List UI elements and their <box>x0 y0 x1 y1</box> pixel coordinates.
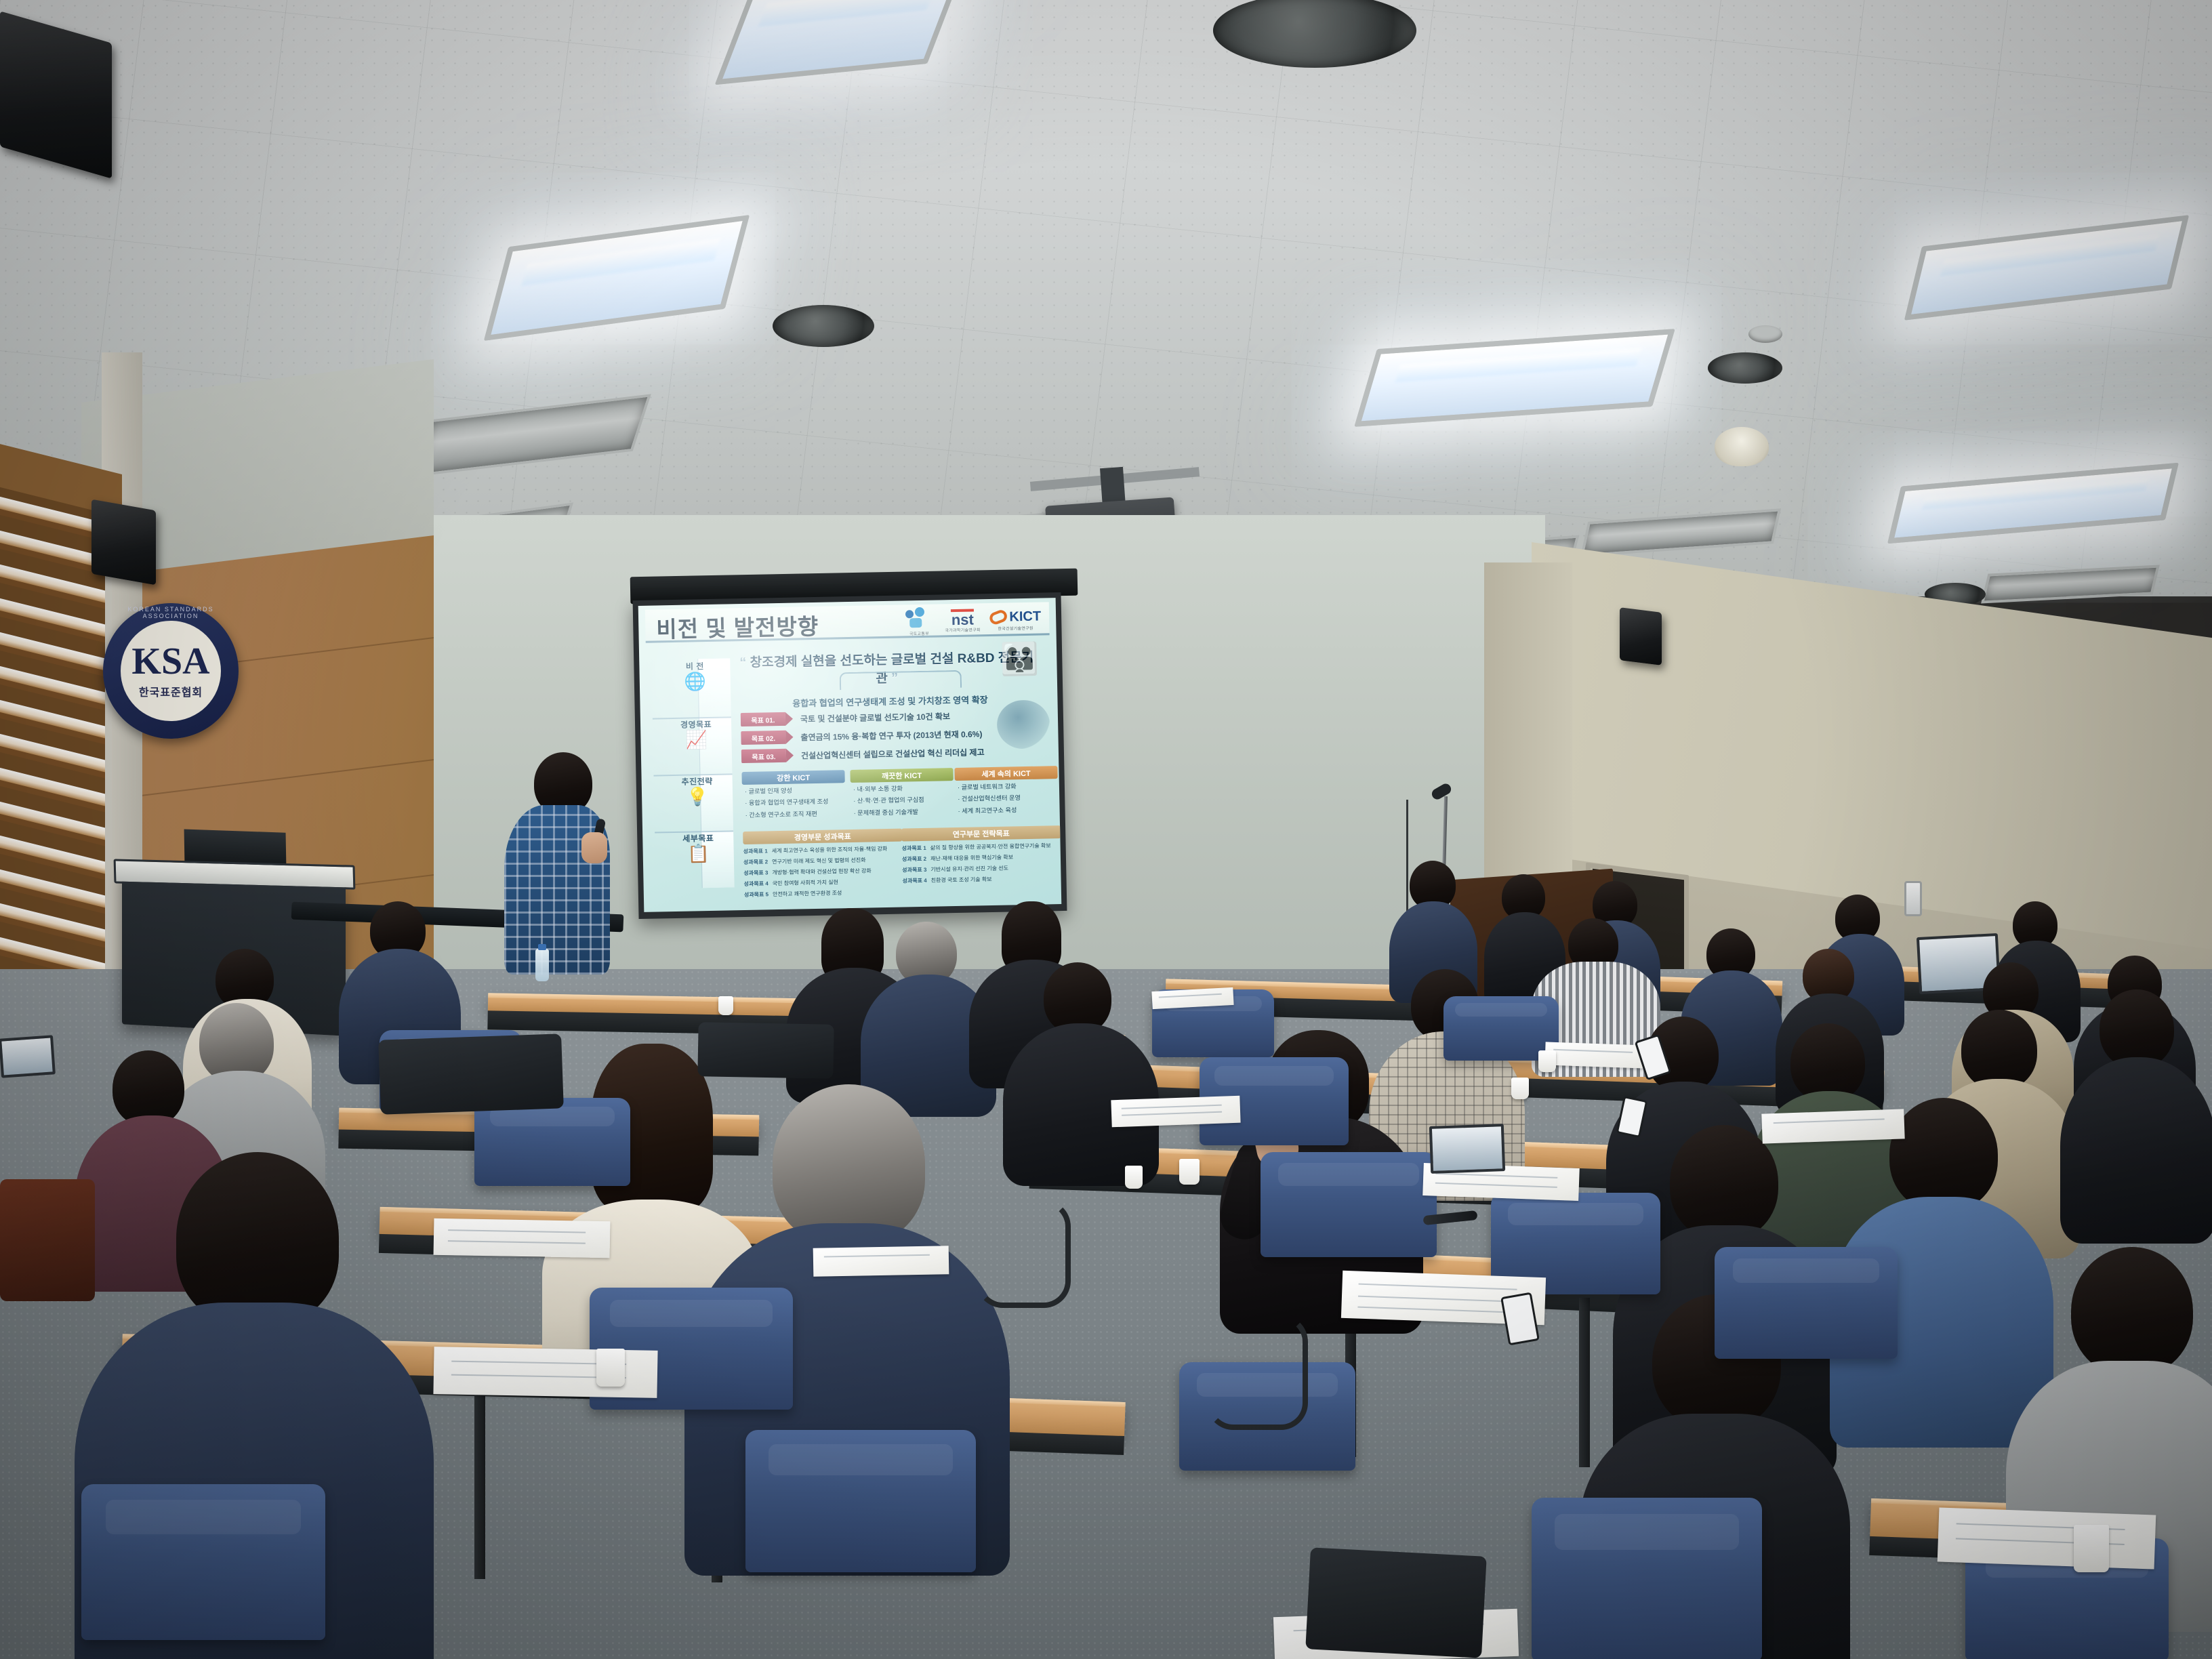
objective-row: 성과목표 3 기반시설 유지·관리 선진 기술 선도 <box>902 863 1061 874</box>
presentation-slide: 비전 및 발전방향 국토교통부 nst 국가과학기술연구회 <box>638 598 1062 912</box>
objective-no: 성과목표 4 <box>744 880 769 888</box>
goal-tag: 목표 02. <box>741 731 785 745</box>
strategy-bullet: · 산·학·연·관 협업의 구심점 <box>851 794 954 806</box>
strategy-box-title: 세계 속의 KICT <box>954 766 1057 781</box>
handout-papers[interactable] <box>1111 1096 1240 1128</box>
strategy-bullet: · 세계 최고연구소 육성 <box>955 804 1058 816</box>
attendee-head <box>2100 989 2174 1068</box>
wall-control-panel[interactable] <box>1904 881 1922 916</box>
goal-row: 목표 03. 건설산업혁신센터 설립으로 건설산업 혁신 리더십 제고 <box>741 744 985 764</box>
objective-row: 성과목표 1 세계 최고연구소 육성을 위한 조직의 자율·책임 강화 <box>743 845 903 856</box>
strategy-bullet: · 글로벌 인재 양성 <box>742 785 845 796</box>
globe-icon: 🌐 <box>652 671 739 692</box>
attendee-head <box>1961 1010 2037 1090</box>
objective-no: 성과목표 2 <box>743 858 768 866</box>
chair[interactable] <box>1715 1247 1898 1359</box>
globe-graphic <box>996 699 1050 749</box>
ksa-logo-ring-text: KOREAN STANDARDS ASSOCIATION <box>103 606 239 619</box>
wall-speaker <box>1620 607 1662 665</box>
person-silhouette-icon: 👪 <box>1000 640 1040 678</box>
molit-logo-label: 국토교통부 <box>903 630 935 637</box>
strategy-bullet: · 융합과 협업의 연구생태계 조성 <box>742 796 845 808</box>
strategy-box: 세계 속의 KICT · 글로벌 네트워크 강화 · 건설산업혁신센터 운영 ·… <box>954 766 1058 816</box>
step-strategy: 추진전략 💡 <box>654 775 741 807</box>
quote-open: “ <box>739 655 746 670</box>
objective-panel-title: 연구부문 전략목표 <box>901 825 1061 842</box>
objective-text: 안전하고 쾌적한 연구환경 조성 <box>773 889 842 898</box>
paper-cup[interactable] <box>1538 1050 1556 1072</box>
objective-text: 기반시설 유지·관리 선진 기술 선도 <box>930 865 1008 874</box>
projection-screen: 비전 및 발전방향 국토교통부 nst 국가과학기술연구회 <box>633 592 1067 919</box>
objective-no: 성과목표 5 <box>744 890 769 899</box>
attendee-head <box>176 1152 339 1325</box>
goal-tag: 목표 03. <box>741 749 786 763</box>
objective-row: 성과목표 4 국민 참여형 사회적 가치 실현 <box>744 878 903 888</box>
attendee <box>1003 962 1159 1172</box>
objective-no: 성과목표 2 <box>902 855 926 863</box>
handout-papers[interactable] <box>1544 1042 1647 1068</box>
attendee-torso <box>2060 1057 2212 1244</box>
bag-on-floor[interactable] <box>1305 1547 1486 1658</box>
slide-step-column: 비 전 🌐 경영목표 📈 추진전략 💡 세부목표 📋 <box>651 658 742 883</box>
objective-row: 성과목표 1 삶의 질 향상을 위한 공공복지·안전 융합연구기술 확보 <box>902 842 1061 853</box>
objective-panel: 연구부문 전략목표 성과목표 1 삶의 질 향상을 위한 공공복지·안전 융합연… <box>901 825 1061 884</box>
strategy-bullet: · 글로벌 네트워크 강화 <box>955 781 1058 792</box>
goal-row: 목표 02. 출연금의 15% 융·복합 연구 투자 (2013년 현재 0.6… <box>741 726 982 745</box>
fork-arrow-icon <box>840 670 962 690</box>
molit-logo: 국토교통부 <box>903 607 936 637</box>
chair[interactable] <box>1261 1152 1437 1257</box>
ceiling-vent <box>1708 352 1782 384</box>
objective-text: 개방형·협력 확대와 건설산업 현장 확산 강화 <box>772 867 871 876</box>
laptop[interactable] <box>1429 1124 1505 1174</box>
goal-text: 건설산업혁신센터 설립으로 건설산업 혁신 리더십 제고 <box>801 746 985 761</box>
strategy-bullet: · 문제해결 중심 기술개발 <box>851 806 954 818</box>
dome-ceiling-lamp <box>1715 427 1769 466</box>
paper-cup[interactable] <box>596 1349 625 1387</box>
objective-row: 성과목표 4 친환경 국토 조성 기술 확보 <box>902 874 1061 885</box>
attendee-head <box>2071 1247 2193 1376</box>
kict-logo-label: KICT <box>1009 609 1041 625</box>
objective-row: 성과목표 3 개방형·협력 확대와 건설산업 현장 확산 강화 <box>743 867 903 878</box>
goal-text: 출연금의 15% 융·복합 연구 투자 (2013년 현재 0.6%) <box>800 728 982 743</box>
handout-papers[interactable] <box>813 1246 949 1276</box>
slide-logo-group: 국토교통부 nst 국가과학기술연구회 KICT 한국건설기술연구원 <box>903 605 1042 637</box>
wall-speaker <box>91 499 156 586</box>
strategy-box-title: 강한 KICT <box>741 770 844 785</box>
objective-panel: 경영부문 성과목표 성과목표 1 세계 최고연구소 육성을 위한 조직의 자율·… <box>743 829 903 899</box>
objective-row: 성과목표 5 안전하고 쾌적한 연구환경 조성 <box>744 888 903 899</box>
bag-on-desk[interactable] <box>378 1033 564 1114</box>
paper-cup[interactable] <box>1179 1159 1200 1185</box>
chair[interactable] <box>745 1430 976 1572</box>
objective-row: 성과목표 2 연구기반 미래 제도 혁신 및 법령의 선진화 <box>743 856 903 867</box>
attendee-head <box>1790 1023 1865 1102</box>
smoke-detector <box>1748 325 1782 343</box>
kict-logo-sub: 한국건설기술연구원 <box>990 624 1042 631</box>
ksa-logo: KSA 한국표준협회 KOREAN STANDARDS ASSOCIATION <box>103 603 239 739</box>
paper-cup[interactable] <box>2074 1525 2109 1572</box>
handout-papers[interactable] <box>1938 1507 2156 1569</box>
objective-row: 성과목표 2 재난·재해 대응을 위한 핵심기술 확보 <box>902 853 1061 863</box>
clipboard-icon: 📋 <box>655 843 742 864</box>
nst-logo-sub: 국가과학기술연구회 <box>945 626 981 633</box>
chair-armrest <box>1206 1315 1308 1430</box>
goal-text: 국토 및 건설분야 글로벌 선도기술 10건 확보 <box>800 710 950 724</box>
objective-text: 재난·재해 대응을 위한 핵심기술 확보 <box>930 853 1013 862</box>
nst-logo: nst 국가과학기술연구회 <box>945 609 981 633</box>
objective-no: 성과목표 3 <box>743 869 768 877</box>
chair-armrest <box>976 1200 1071 1308</box>
chair[interactable] <box>1532 1498 1762 1659</box>
presenter <box>501 752 617 976</box>
laptop[interactable] <box>0 1035 56 1078</box>
objective-no: 성과목표 3 <box>902 866 926 874</box>
strategy-box: 강한 KICT · 글로벌 인재 양성 · 융합과 협업의 연구생태계 조성 ·… <box>741 770 845 820</box>
bar-chart-icon: 📈 <box>653 729 740 750</box>
objective-text: 친환경 국토 조성 기술 확보 <box>931 876 992 884</box>
attendee <box>2060 989 2212 1233</box>
step-detailed-goal: 세부목표 📋 <box>655 832 742 864</box>
ksa-logo-acronym: KSA <box>103 642 239 680</box>
kict-logo: KICT 한국건설기술연구원 <box>989 609 1041 631</box>
objective-no: 성과목표 1 <box>743 847 768 855</box>
attendee-head <box>1889 1098 1998 1212</box>
ksa-logo-korean: 한국표준협회 <box>103 683 239 699</box>
vision-subheading: 융합과 협업의 연구생태계 조성 및 가치창조 영역 확장 <box>741 692 1038 710</box>
strategy-box-title: 깨끗한 KICT <box>850 768 953 783</box>
presenter-hand <box>581 832 607 863</box>
seminar-room-photo: KSA 한국표준협회 KOREAN STANDARDS ASSOCIATION … <box>0 0 2212 1659</box>
objective-text: 세계 최고연구소 육성을 위한 조직의 자율·책임 강화 <box>772 845 888 855</box>
objective-no: 성과목표 1 <box>902 844 926 853</box>
chair[interactable] <box>81 1484 325 1640</box>
objective-text: 국민 참여형 사회적 가치 실현 <box>773 878 838 887</box>
objective-text: 연구기반 미래 제도 혁신 및 법령의 선진화 <box>772 857 866 866</box>
paper-cup[interactable] <box>1125 1166 1143 1189</box>
bag-on-desk[interactable] <box>697 1022 834 1078</box>
objective-no: 성과목표 4 <box>902 877 926 885</box>
step-management-goal: 경영목표 📈 <box>653 718 740 750</box>
ceiling-vent <box>773 305 874 347</box>
paper-cup[interactable] <box>1511 1078 1529 1099</box>
paper-cup[interactable] <box>718 996 733 1015</box>
lightbulb-icon: 💡 <box>654 786 741 807</box>
attendee-head <box>773 1084 925 1244</box>
goal-tag: 목표 01. <box>741 712 785 726</box>
strategy-box: 깨끗한 KICT · 내·외부 소통 강화 · 산·학·연·관 협업의 구심점 … <box>850 768 954 818</box>
kict-chain-icon <box>988 609 1009 626</box>
strategy-bullet: · 내·외부 소통 강화 <box>851 783 954 794</box>
nst-logo-label: nst <box>951 611 974 629</box>
bag-on-floor[interactable] <box>0 1179 95 1301</box>
desk-leg <box>474 1376 485 1579</box>
handout-papers[interactable] <box>1761 1109 1904 1143</box>
handout-papers[interactable] <box>434 1218 611 1258</box>
strategy-bullet: · 건설산업혁신센터 운영 <box>955 792 1058 804</box>
step-vision: 비 전 🌐 <box>651 659 739 692</box>
goal-row: 목표 01. 국토 및 건설분야 글로벌 선도기술 10건 확보 <box>741 708 950 727</box>
objective-panel-title: 경영부문 성과목표 <box>743 829 902 845</box>
strategy-bullet: · 간소형 연구소로 조직 재편 <box>743 808 846 820</box>
objective-text: 삶의 질 향상을 위한 공공복지·안전 융합연구기술 확보 <box>930 842 1051 851</box>
chair[interactable] <box>474 1098 630 1186</box>
water-bottle <box>535 949 549 981</box>
